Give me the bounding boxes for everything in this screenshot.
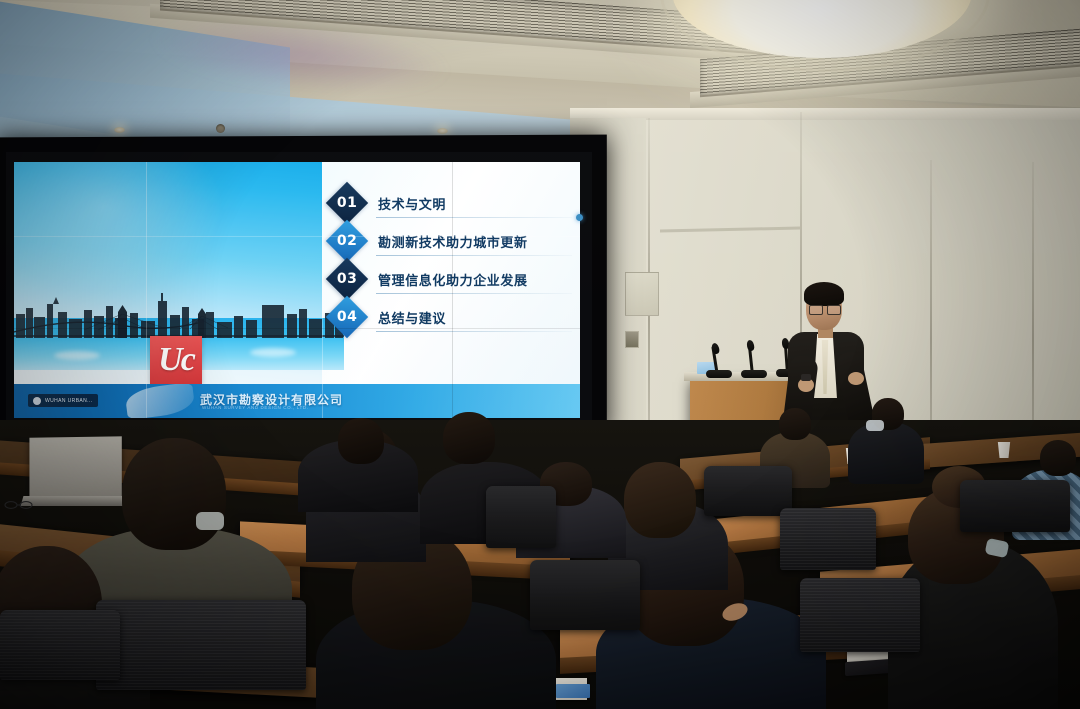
- water-reflection: [250, 348, 296, 357]
- water-reflection: [54, 351, 100, 360]
- slide-footer-banner: WUHAN URBAN... 武汉市勘察设计有限公司 WUHAN SURVEY …: [14, 384, 580, 418]
- contents-underline: [376, 293, 572, 294]
- contents-underline: [376, 331, 572, 332]
- presentation-clicker[interactable]: [801, 374, 811, 381]
- lens-right: [827, 305, 841, 315]
- contents-number: 03: [337, 271, 357, 287]
- contents-item-02[interactable]: 02 勘测新技术助力城市更新: [332, 222, 576, 260]
- eyeglasses-icon: [809, 305, 839, 313]
- led-panel-seam: [146, 162, 147, 418]
- contents-underline: [376, 217, 572, 218]
- banner-badge-label: WUHAN URBAN...: [45, 398, 93, 404]
- contents-item-04[interactable]: 04 总结与建议: [332, 298, 576, 336]
- wall-outlet-plate: [625, 331, 639, 348]
- microphone-base: [741, 370, 767, 378]
- laptop[interactable]: [29, 436, 121, 501]
- office-chair: [530, 560, 640, 630]
- wall-cornice: [570, 108, 1080, 120]
- office-chair: [780, 508, 876, 570]
- screen-power-indicator-icon[interactable]: [576, 214, 583, 221]
- skyline-silhouette-icon: [14, 292, 344, 338]
- office-chair: [800, 578, 920, 652]
- presenter-hand-right: [848, 372, 864, 385]
- blue-folder[interactable]: [556, 684, 590, 698]
- office-chair: [960, 480, 1070, 532]
- attendee-torso: [848, 422, 924, 484]
- attendee-head: [1040, 440, 1076, 476]
- downlight-icon: [114, 127, 125, 133]
- lens-left: [809, 305, 823, 315]
- attendee-head-hair: [443, 412, 495, 464]
- office-chair: [486, 486, 556, 548]
- company-logo: Uc: [150, 336, 202, 384]
- led-panel-seam: [14, 328, 580, 329]
- banner-badge-icon: [33, 397, 41, 405]
- logo-monogram: Uc: [158, 343, 194, 377]
- attendee-head: [779, 408, 811, 440]
- face-mask: [866, 420, 884, 431]
- contents-label: 总结与建议: [378, 308, 446, 327]
- office-chair: [0, 610, 120, 680]
- slide-highlight: [14, 162, 224, 292]
- downlight-icon: [437, 128, 448, 134]
- contents-underline: [376, 255, 572, 256]
- attendee-head-hair: [624, 462, 696, 538]
- face-mask: [196, 512, 224, 530]
- attendee-head-hair: [122, 438, 226, 550]
- office-chair: [704, 466, 792, 516]
- contents-badge-04: 04: [326, 296, 368, 338]
- banner-badge: WUHAN URBAN...: [28, 394, 98, 407]
- office-chair: [96, 600, 306, 690]
- contents-number: 01: [337, 195, 357, 211]
- attendee-head-hair: [338, 418, 384, 464]
- contents-item-03[interactable]: 03 管理信息化助力企业发展: [332, 260, 576, 298]
- banner-swoosh-icon: [124, 384, 195, 418]
- contents-badge-02: 02: [326, 220, 368, 262]
- eyeglasses-on-table-icon: [4, 500, 34, 509]
- wall-panel-plate: [625, 272, 659, 316]
- contents-list: 01 技术与文明 02 勘测新技术助力城市更新 03 管理信息化助力企业发展: [332, 184, 576, 336]
- contents-number: 04: [337, 309, 357, 325]
- presentation-slide[interactable]: Uc 武汉城建集团 WUHAN URBAN CONSTRUCTION GROUP…: [14, 162, 580, 418]
- contents-badge-03: 03: [326, 258, 368, 300]
- banner-company-en: WUHAN SURVEY AND DESIGN CO., LTD.: [202, 405, 309, 410]
- conference-room-photo: Uc 武汉城建集团 WUHAN URBAN CONSTRUCTION GROUP…: [0, 0, 1080, 709]
- contents-badge-01: 01: [326, 182, 368, 224]
- presenter-hair: [804, 282, 844, 306]
- contents-item-01[interactable]: 01 技术与文明: [332, 184, 576, 222]
- led-panel-seam: [322, 162, 323, 418]
- led-panel-seam: [14, 236, 580, 237]
- led-panel-seam: [452, 162, 453, 418]
- ceiling-speaker-icon: [216, 124, 225, 133]
- contents-label: 技术与文明: [378, 194, 446, 213]
- microphone-base: [706, 370, 732, 378]
